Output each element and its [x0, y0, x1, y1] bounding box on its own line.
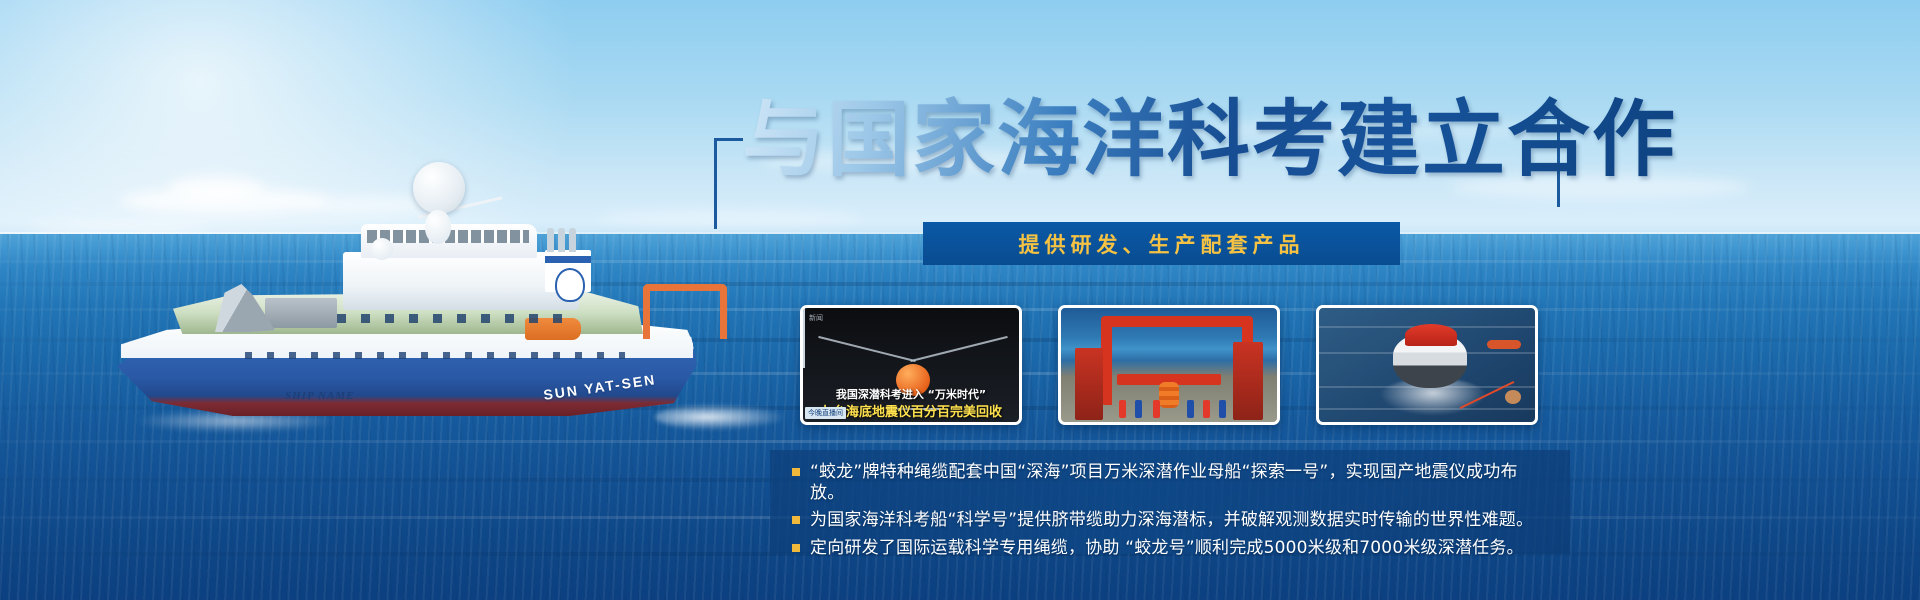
submersible-sail: [1405, 324, 1457, 346]
float-string: [1159, 382, 1179, 408]
list-item: 为国家海洋科考船“科学号”提供脐带缆助力深海潜标，并破解观测数据实时传输的世界性…: [792, 510, 1552, 531]
thumbnail-deck-deployment[interactable]: [1058, 305, 1280, 425]
porthole-row: [245, 352, 625, 359]
deck-machinery-left: [1075, 348, 1103, 420]
radome-secondary-icon: [425, 210, 451, 244]
headline-block: 与国家海洋科考建立合作: [714, 96, 1294, 224]
thumbnail-gallery: 新闻 我国深潜科考进入 “万米时代” 九台海底地震仪百分百完美回收 今晚直播间: [800, 305, 1540, 425]
bullet-text: 定向研发了国际运载科学专用绳缆，协助 “蛟龙号”顺利完成5000米级和7000米…: [810, 538, 1524, 559]
thumbnail-submersible[interactable]: [1316, 305, 1538, 425]
list-item: “蛟龙”牌特种绳缆配套中国“深海”项目万米深潜作业母船“探索一号”，实现国产地震…: [792, 462, 1552, 503]
thumbnail-caption-top: 我国深潜科考进入 “万米时代”: [803, 386, 1019, 402]
deck-container: [265, 298, 337, 328]
radome-small-icon: [371, 238, 393, 260]
highlights-panel: “蛟龙”牌特种绳缆配套中国“深海”项目万米深潜作业母船“探索一号”，实现国产地震…: [770, 450, 1570, 554]
window-row: [337, 314, 567, 323]
subtitle-bar: 提供研发、生产配套产品: [923, 222, 1400, 265]
marketing-banner: SHIP NAME SUN YAT-SEN 与国家海洋科考建立合作 提供研发、生…: [0, 0, 1920, 600]
ship-emblem-icon: [555, 268, 585, 302]
ship-name-aft: SHIP NAME: [285, 390, 354, 402]
radome-icon: [413, 162, 465, 214]
funnel-pipe: [558, 228, 565, 252]
highlights-list: “蛟龙”牌特种绳缆配套中国“深海”项目万米深潜作业母船“探索一号”，实现国产地震…: [792, 462, 1552, 559]
list-item: 定向研发了国际运载科学专用绳缆，协助 “蛟龙号”顺利完成5000米级和7000米…: [792, 538, 1552, 559]
deck-machinery-right: [1233, 342, 1263, 420]
funnel-pipe: [569, 228, 576, 252]
bullet-square-icon: [792, 544, 800, 552]
thumbnail-channel-chip: 今晚直播间: [805, 407, 846, 419]
stern-a-frame: [643, 284, 727, 339]
buoy-icon: [1505, 390, 1521, 404]
bullet-text: 为国家海洋科考船“科学号”提供脐带缆助力深海潜标，并破解观测数据实时传输的世界性…: [810, 510, 1533, 531]
bracket-top-left-icon: [714, 138, 743, 229]
subtitle-text: 提供研发、生产配套产品: [1019, 229, 1305, 259]
bow-wake: [655, 404, 785, 430]
bullet-text: “蛟龙”牌特种绳缆配套中国“深海”项目万米深潜作业母船“探索一号”，实现国产地震…: [810, 462, 1552, 503]
bullet-square-icon: [792, 468, 800, 476]
support-boat-icon: [1487, 340, 1521, 349]
ship-deckhouse: [343, 252, 579, 310]
research-vessel-illustration: SHIP NAME SUN YAT-SEN: [95, 166, 735, 436]
bullet-square-icon: [792, 516, 800, 524]
funnel-pipe: [547, 228, 554, 252]
headline-text: 与国家海洋科考建立合作: [742, 96, 1677, 183]
thumbnail-news-still[interactable]: 新闻 我国深潜科考进入 “万米时代” 九台海底地震仪百分百完美回收 今晚直播间: [800, 305, 1022, 425]
hoist-line: [803, 308, 805, 368]
winch-cable: [910, 336, 1008, 362]
thumbnail-corner-label: 新闻: [809, 313, 823, 323]
winch-cable: [818, 336, 916, 362]
